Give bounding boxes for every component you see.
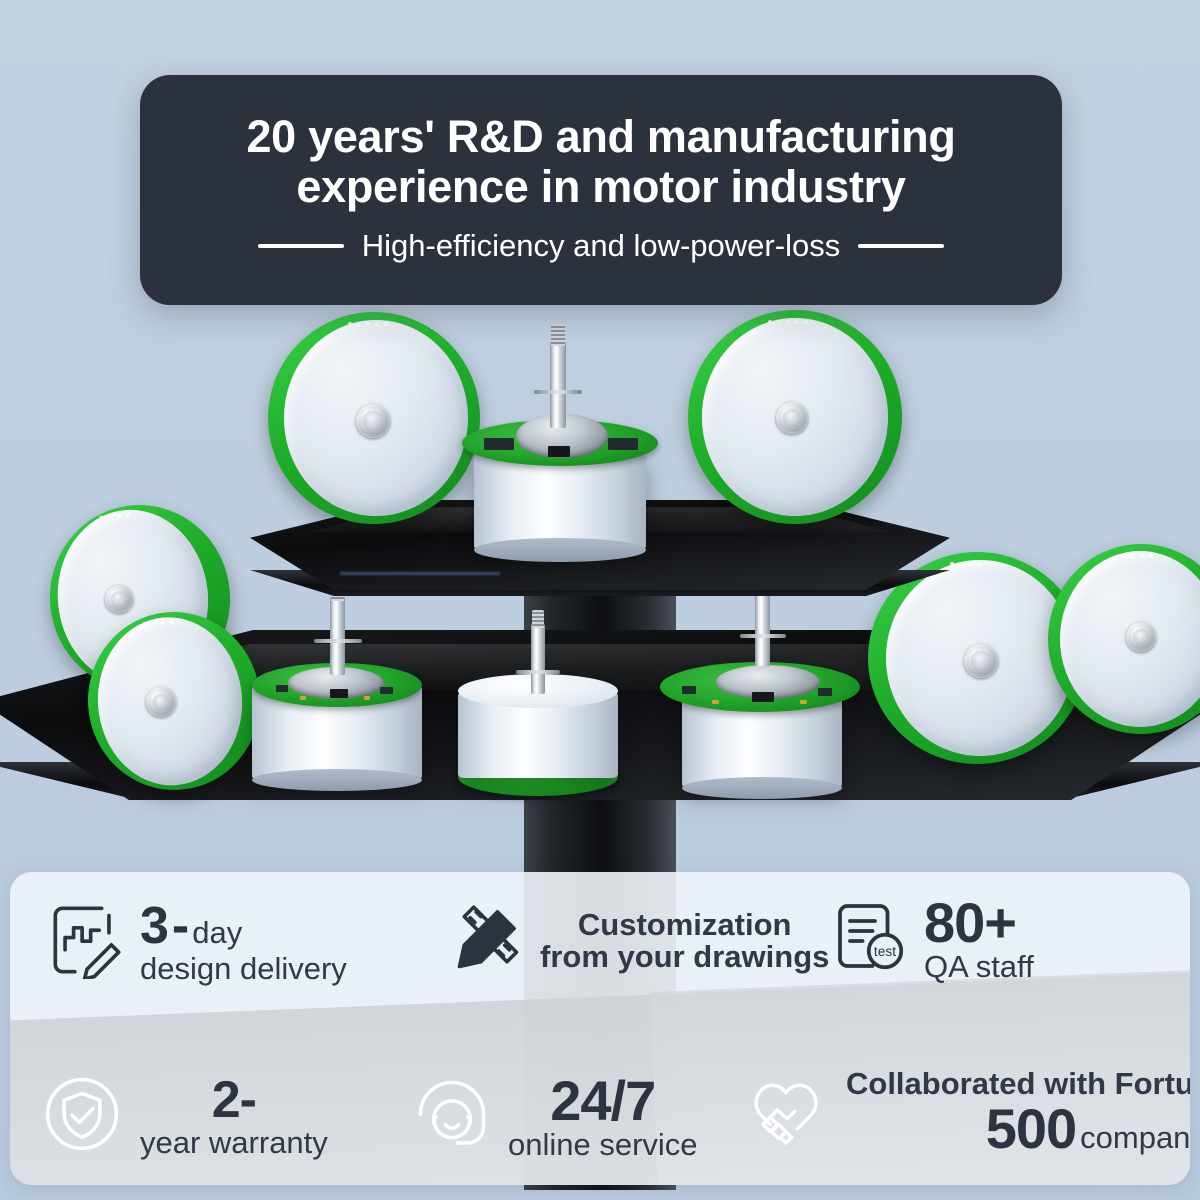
feature-design-delivery: 3 - day design delivery (48, 900, 347, 985)
pcb-pad (800, 700, 807, 704)
features-panel: 3 - day design delivery Customiz (10, 872, 1190, 1185)
pcb-pad (300, 696, 306, 700)
pcb-chip (608, 438, 638, 450)
feature-value: 500 (986, 1100, 1076, 1157)
rule-left-icon (258, 244, 344, 248)
platform-light-streak (340, 572, 500, 575)
feature-label: QA staff (924, 951, 1034, 983)
document-pencil-icon (48, 901, 126, 984)
motor-disc (82, 606, 266, 796)
feature-value-suffix: - (172, 900, 188, 953)
feature-value: 3 (140, 900, 168, 953)
pcb-chip (380, 687, 393, 694)
feature-customization: Customization from your drawings (450, 900, 829, 981)
rule-right-icon (858, 244, 944, 248)
motor-shaft-collar (516, 670, 560, 674)
motor-shaft-thread (532, 610, 544, 628)
motor-disc (688, 310, 902, 524)
motor-hub (776, 402, 808, 434)
feature-line-1: Collaborated with Fortune (846, 1068, 1190, 1100)
feature-text: 80+ QA staff (924, 894, 1034, 983)
pcb-chip (330, 689, 348, 698)
motor-housing (474, 454, 646, 550)
motor-shaft (550, 342, 566, 428)
feature-value: 80+ (924, 894, 1034, 951)
feature-text: 3 - day design delivery (140, 900, 347, 985)
motor-shaft-collar (740, 634, 786, 638)
banner-stage: 20 years' R&D and manufacturing experien… (0, 0, 1200, 1200)
motor-hub (1126, 622, 1156, 652)
feature-text: Collaborated with Fortune 500 companies (846, 1068, 1190, 1157)
svg-text:test: test (874, 944, 896, 959)
pcb-chip (484, 438, 514, 450)
feature-qa-staff: test 80+ QA staff (830, 894, 1034, 983)
motor-hub (356, 404, 390, 438)
pcb-pad (712, 700, 719, 704)
motor-cylinder (462, 410, 658, 550)
feature-online-service: 24/7 online service (410, 1072, 698, 1161)
motor-base (474, 538, 646, 562)
feature-line-1: Customization (540, 909, 829, 941)
pcb-chip (682, 686, 696, 694)
subtitle-text: High-efficiency and low-power-loss (362, 228, 840, 264)
pcb-chip (548, 446, 570, 457)
pcb-chip (818, 688, 832, 696)
motor-shaft-collar (314, 639, 362, 643)
motor-shaft (531, 624, 545, 694)
headset-support-icon (410, 1072, 494, 1161)
feature-value-row: 500 companies (846, 1100, 1190, 1157)
motor-cylinder (458, 686, 618, 806)
motor-shaft (330, 597, 345, 675)
handshake-icon (740, 1064, 832, 1161)
pcb-chip (276, 685, 288, 692)
headline-banner: 20 years' R&D and manufacturing experien… (140, 75, 1062, 305)
feature-text: 2- year warranty (140, 1074, 328, 1159)
motor-hub (964, 644, 998, 678)
motor-pcb (660, 662, 860, 712)
feature-warranty: 2- year warranty (38, 1070, 328, 1163)
feature-label: online service (508, 1129, 698, 1161)
shield-check-icon (38, 1070, 126, 1163)
feature-value: 24/7 (508, 1072, 698, 1129)
motor-cylinder (252, 645, 422, 780)
feature-label: year warranty (140, 1127, 328, 1159)
motor-disc (1048, 544, 1200, 734)
headline-line-1: 20 years' R&D and manufacturing (246, 112, 955, 162)
product-scene (0, 300, 1200, 900)
pcb-chip (752, 692, 774, 702)
motor-base (252, 769, 422, 791)
feature-text: 24/7 online service (508, 1072, 698, 1161)
motor-cylinder (660, 648, 860, 788)
motor-base (682, 777, 842, 799)
pcb-pad (364, 696, 370, 700)
feature-value: 2- (140, 1074, 328, 1127)
headline-line-2: experience in motor industry (296, 162, 905, 212)
motor-shaft-thread (551, 324, 565, 346)
feature-text: Customization from your drawings (540, 909, 829, 972)
feature-label: design delivery (140, 953, 347, 985)
feature-unit: day (192, 917, 242, 949)
feature-fortune-500: Collaborated with Fortune 500 companies (740, 1064, 1190, 1161)
subtitle-row: High-efficiency and low-power-loss (258, 228, 944, 264)
feature-value-row: 3 - day (140, 900, 347, 953)
motor-disc (268, 312, 480, 524)
feature-label: companies (1080, 1122, 1190, 1154)
pencil-ruler-icon (450, 900, 526, 981)
motor-shaft-collar (534, 390, 582, 394)
test-document-icon: test (830, 896, 910, 981)
feature-line-2: from your drawings (540, 941, 829, 973)
